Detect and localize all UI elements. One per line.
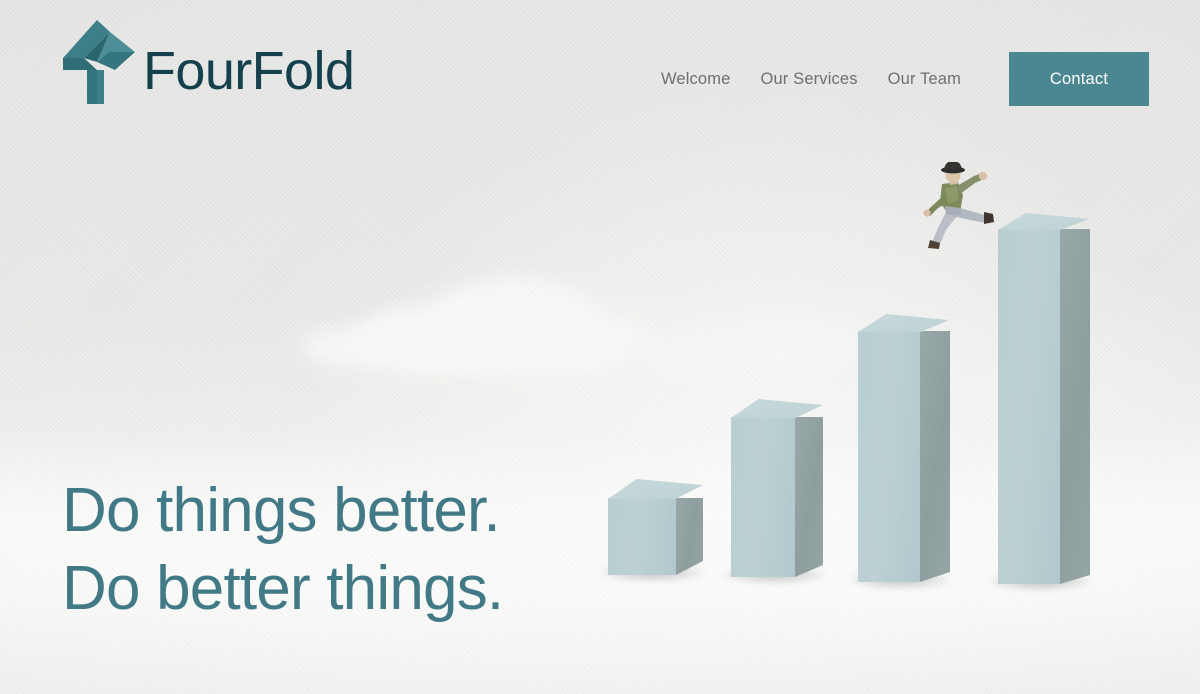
fourfold-origami-mark-icon: [57, 18, 145, 106]
nav-link-welcome[interactable]: Welcome: [661, 70, 746, 89]
main-navigation: Welcome Our Services Our Team Contact: [661, 52, 1149, 106]
landing-page: 1 2.1 3.3 4.6: [0, 0, 1200, 694]
site-header: FourFold Welcome Our Services Our Team C…: [0, 0, 1200, 150]
brand-name: FourFold: [143, 44, 354, 98]
nav-link-our-team[interactable]: Our Team: [873, 70, 976, 89]
brand-logo[interactable]: FourFold: [57, 18, 356, 106]
hero-headline: Do things better. Do better things.: [62, 472, 503, 628]
nav-link-our-services[interactable]: Our Services: [745, 70, 872, 89]
nav-cta-contact[interactable]: Contact: [1009, 52, 1149, 106]
hero-headline-line-2: Do better things.: [62, 554, 503, 623]
hero-headline-line-1: Do things better.: [62, 476, 500, 545]
